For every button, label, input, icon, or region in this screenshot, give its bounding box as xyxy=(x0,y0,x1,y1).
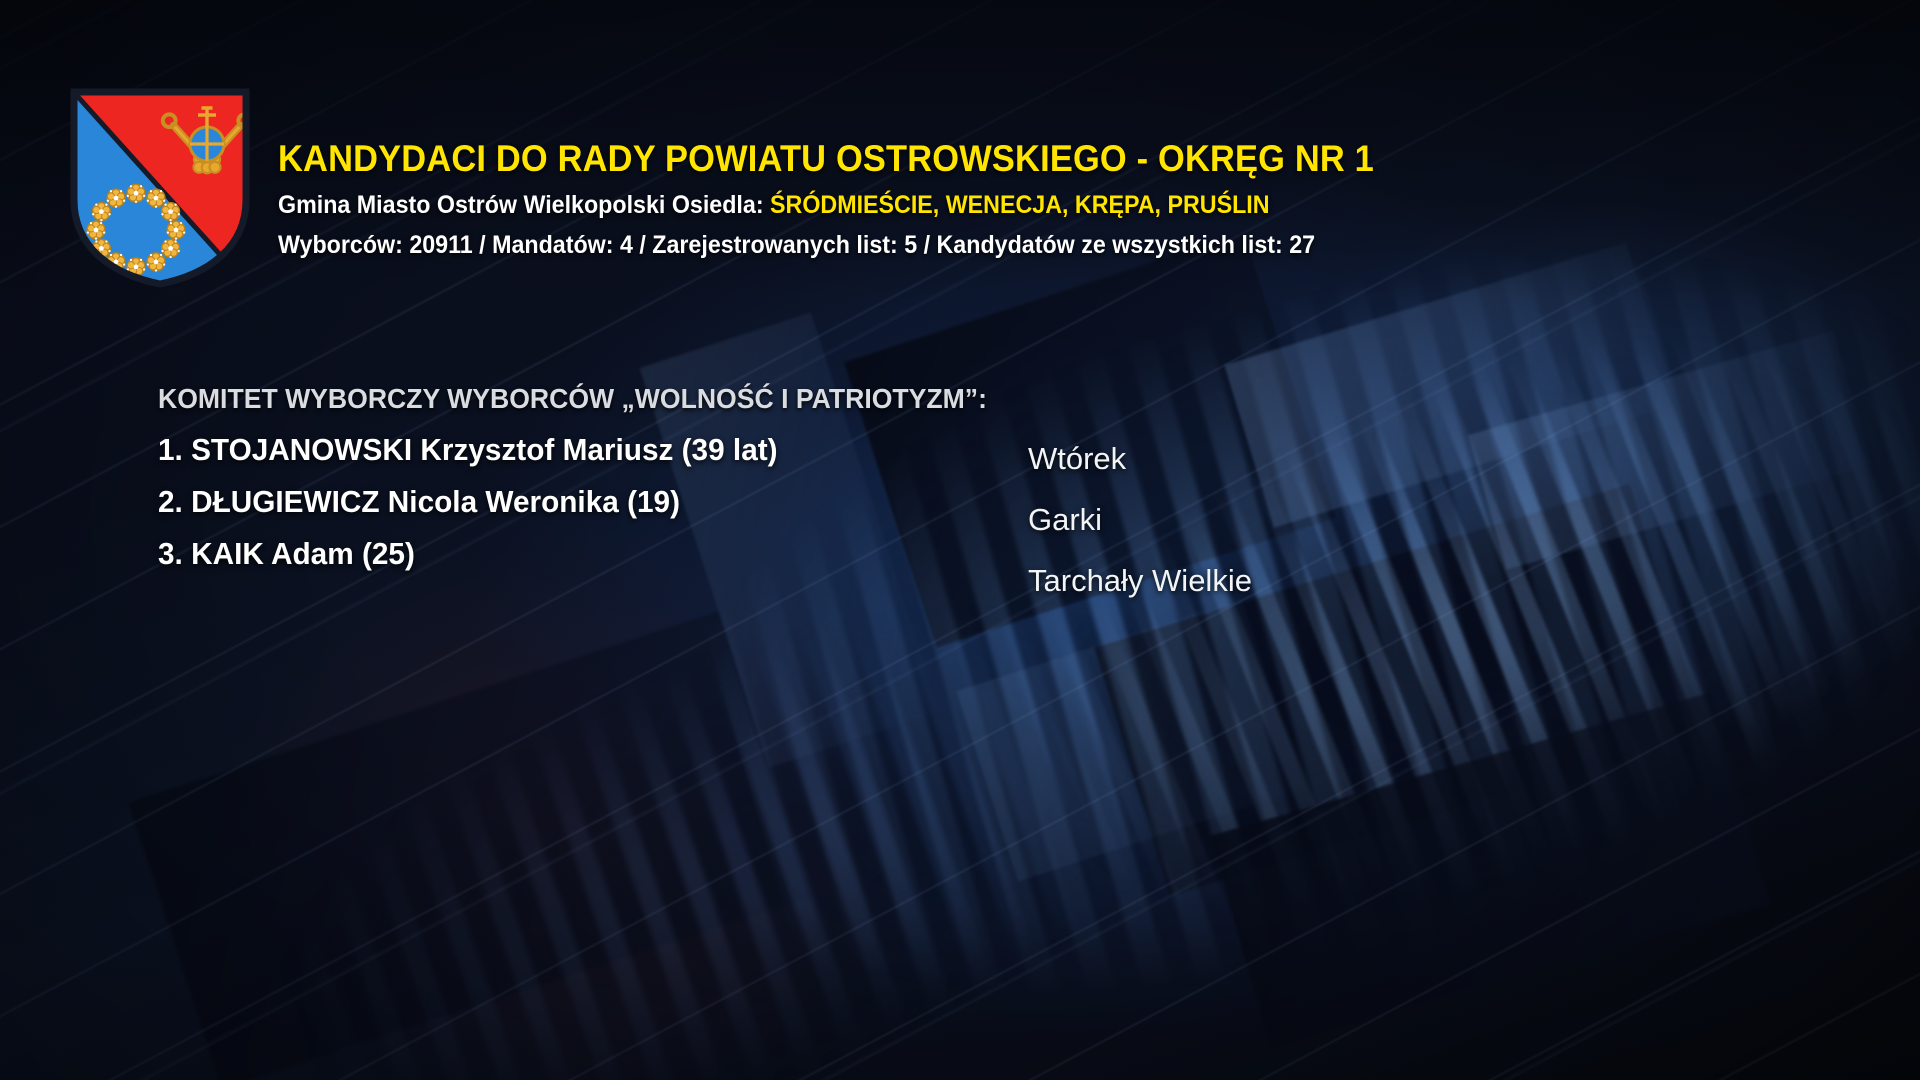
coat-of-arms-icon xyxy=(70,88,250,288)
subtitle-districts-value: ŚRÓDMIEŚCIE, WENECJA, KRĘPA, PRUŚLIN xyxy=(770,191,1270,219)
locality-item: Wtórek xyxy=(1028,443,1448,474)
locality-item: Garki xyxy=(1028,504,1448,535)
subtitle-prefix: Gmina Miasto Ostrów Wielkopolski Osiedla… xyxy=(278,191,770,219)
locality-list: Wtórek Garki Tarchały Wielkie xyxy=(1028,443,1448,596)
coat-of-arms xyxy=(70,88,250,288)
committee-block: KOMITET WYBORCZY WYBORCÓW „WOLNOŚĆ I PAT… xyxy=(158,385,1038,569)
locality-item: Tarchały Wielkie xyxy=(1028,565,1448,596)
content-layer: KANDYDACI DO RADY POWIATU OSTROWSKIEGO -… xyxy=(0,0,1920,1080)
committee-name: KOMITET WYBORCZY WYBORCÓW „WOLNOŚĆ I PAT… xyxy=(158,385,994,413)
stats-line: Wyborców: 20911 / Mandatów: 4 / Zarejest… xyxy=(278,233,1785,258)
page-title: KANDYDACI DO RADY POWIATU OSTROWSKIEGO -… xyxy=(278,140,1785,177)
candidate-row: 3. KAIK Adam (25) xyxy=(158,538,1003,569)
header: KANDYDACI DO RADY POWIATU OSTROWSKIEGO -… xyxy=(278,140,1898,258)
candidate-row: 1. STOJANOWSKI Krzysztof Mariusz (39 lat… xyxy=(158,434,1003,465)
subtitle-districts: Gmina Miasto Ostrów Wielkopolski Osiedla… xyxy=(278,193,1785,218)
candidate-row: 2. DŁUGIEWICZ Nicola Weronika (19) xyxy=(158,486,1003,517)
